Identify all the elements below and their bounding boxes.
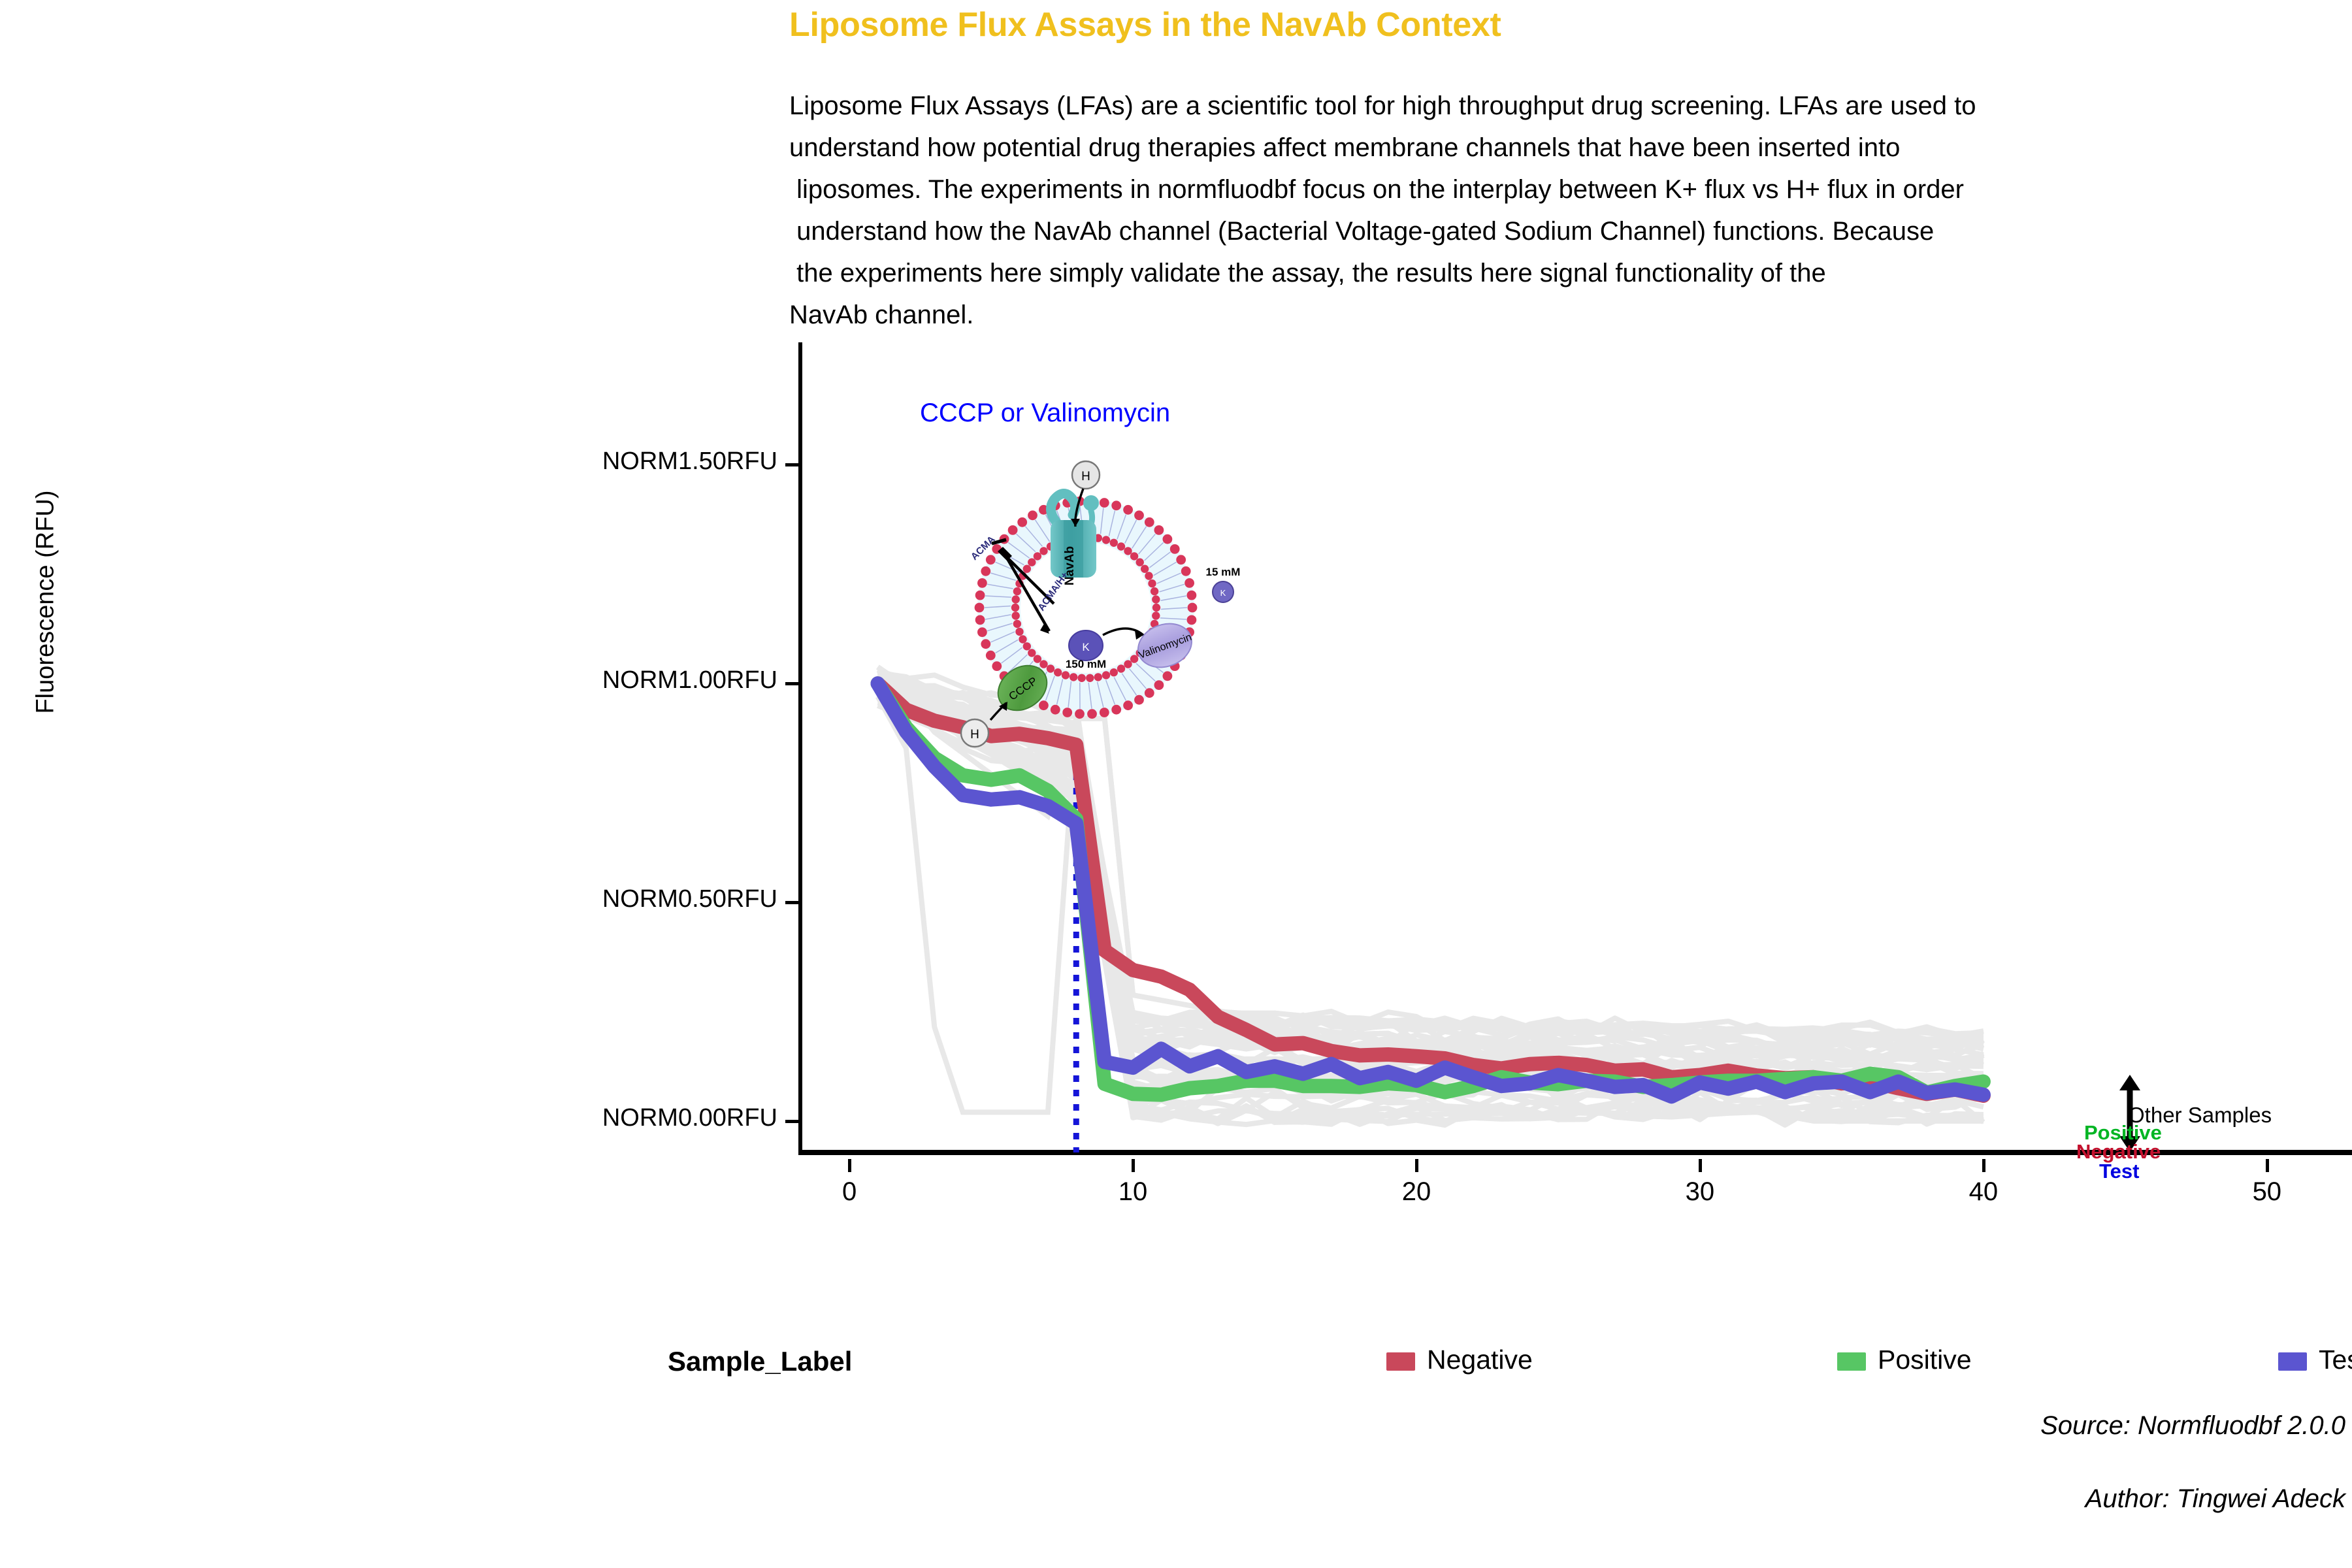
legend-label: Negative	[1427, 1345, 1533, 1375]
lipid-head	[1047, 664, 1054, 672]
x-tick-mark	[1415, 1159, 1418, 1172]
lipid-head	[1051, 705, 1060, 715]
lipid-head	[986, 651, 996, 661]
lipid-head	[1028, 510, 1037, 520]
lipid-head	[1187, 615, 1197, 625]
lipid-head	[1102, 671, 1110, 679]
lipid-head	[1154, 525, 1164, 535]
y-tick-label: NORM0.00RFU	[503, 1104, 777, 1132]
lipid-head	[1141, 565, 1149, 573]
x-tick-mark	[1982, 1159, 1985, 1172]
legend-title: Sample_Label	[668, 1346, 852, 1377]
y-tick-label: NORM1.50RFU	[503, 448, 777, 476]
liposome-diagram: NavAb H ACMA ACMA/H+ K 150 mM	[934, 443, 1269, 754]
y-axis-title: Fluorescence (RFU)	[32, 419, 60, 785]
annotation-test: Test	[2099, 1160, 2139, 1183]
y-tick-label: NORM0.50RFU	[503, 885, 777, 913]
x-tick-label: 50	[2215, 1177, 2319, 1207]
x-tick-mark	[2266, 1159, 2269, 1172]
lipid-head	[1086, 674, 1094, 682]
lipid-head	[1054, 668, 1062, 676]
x-tick-mark	[1699, 1159, 1702, 1172]
lipid-head	[1028, 558, 1036, 566]
lipid-head	[1181, 566, 1191, 576]
lipid-head	[1070, 673, 1077, 681]
lipid-head	[1184, 578, 1194, 588]
lipid-head	[1134, 510, 1144, 520]
legend-swatch	[1837, 1352, 1866, 1371]
x-tick-label: 30	[1648, 1177, 1752, 1207]
lipid-head	[986, 555, 996, 564]
x-tick-mark	[848, 1159, 851, 1172]
footer-author: Author: Tingwei Adeck	[2085, 1484, 2345, 1514]
legend-label: Positive	[1878, 1345, 1972, 1375]
lipid-head	[977, 578, 987, 588]
lipid-head	[1188, 603, 1198, 613]
potassium-inside: K 150 mM	[1066, 630, 1106, 670]
lipid-head	[1130, 655, 1138, 662]
legend-label: Test	[2319, 1345, 2352, 1375]
chart-canvas: Liposome Flux Assays in the NavAb Contex…	[0, 0, 2352, 1568]
lipid-head	[1145, 572, 1152, 580]
y-tick-mark	[785, 682, 798, 685]
x-tick-mark	[1132, 1159, 1135, 1172]
lipid-head	[1124, 547, 1132, 555]
lipid-head	[1136, 558, 1144, 566]
lipid-head	[1176, 555, 1186, 564]
legend-swatch	[1386, 1352, 1415, 1371]
potassium-outside: K 15 mM	[1206, 566, 1241, 602]
y-tick-mark	[785, 901, 798, 904]
footer-source: Source: Normfluodbf 2.0.0	[2040, 1411, 2345, 1441]
lipid-head	[1023, 565, 1031, 573]
lipid-head	[1013, 620, 1021, 628]
lipid-head	[1062, 671, 1070, 679]
lipid-head	[1145, 517, 1154, 527]
k-outside-label: K	[1220, 588, 1226, 598]
lipid-head	[1039, 660, 1047, 668]
proton-bottom-label: H	[970, 728, 979, 742]
lipid-head	[1148, 580, 1156, 587]
y-tick-label: NORM1.00RFU	[503, 666, 777, 694]
lipid-head	[1012, 612, 1020, 619]
lipid-head	[1170, 544, 1180, 554]
lipid-head	[1130, 552, 1138, 560]
lipid-head	[977, 627, 987, 637]
lipid-head	[1110, 539, 1118, 547]
lipid-head	[1145, 688, 1154, 698]
lipid-head	[975, 603, 985, 613]
lipid-head	[1102, 536, 1110, 544]
lipid-head	[1151, 587, 1158, 595]
lipid-head	[1034, 655, 1041, 662]
x-tick-label: 40	[1931, 1177, 2036, 1207]
lipid-head	[1124, 660, 1132, 668]
k-inside-label: K	[1082, 641, 1090, 653]
lipid-head	[1123, 700, 1133, 710]
lipid-head	[1062, 708, 1072, 717]
inset-caption: CCCP or Valinomycin	[920, 399, 1170, 428]
lipid-head	[1152, 595, 1160, 603]
lipid-head	[1187, 591, 1197, 600]
lipid-head	[1117, 664, 1125, 672]
lipid-head	[981, 639, 990, 649]
lipid-head	[1075, 709, 1085, 719]
lipid-head	[1110, 668, 1118, 676]
lipid-head	[1152, 612, 1160, 619]
lipid-head	[1163, 671, 1173, 681]
lipid-head	[1111, 500, 1121, 510]
lipid-head	[1015, 628, 1023, 636]
x-tick-label: 0	[797, 1177, 902, 1207]
proton-bottom: H	[961, 719, 988, 747]
lipid-head	[1019, 635, 1026, 643]
lipid-head	[1028, 649, 1036, 657]
lipid-head	[1163, 534, 1173, 544]
legend: Sample_Label NegativePositiveTest	[668, 1339, 2352, 1385]
proton-top-label: H	[1081, 470, 1090, 483]
lipid-head	[1111, 705, 1121, 715]
y-tick-mark	[785, 463, 798, 466]
lipid-head	[1154, 680, 1164, 690]
lipid-head	[1152, 604, 1160, 612]
x-tick-label: 20	[1364, 1177, 1469, 1207]
lipid-head	[1012, 595, 1020, 603]
lipid-head	[1013, 587, 1021, 595]
lipid-head	[1100, 708, 1109, 717]
lipid-head	[975, 615, 985, 625]
y-tick-mark	[785, 1120, 798, 1123]
lipid-head	[1039, 700, 1049, 710]
lipid-head	[1078, 674, 1086, 682]
lipid-head	[1039, 547, 1047, 555]
k-outside-conc: 15 mM	[1206, 566, 1241, 578]
lipid-head	[992, 661, 1002, 671]
lipid-head	[1087, 709, 1097, 719]
chart-description: Liposome Flux Assays (LFAs) are a scient…	[789, 85, 2352, 336]
lipid-head	[1023, 642, 1031, 650]
lipid-head	[1011, 604, 1019, 612]
lipid-head	[1100, 498, 1109, 508]
lipid-head	[1008, 525, 1018, 535]
lipid-head	[1017, 517, 1027, 527]
lipid-head	[1034, 552, 1041, 560]
x-tick-label: 10	[1081, 1177, 1185, 1207]
lipid-head	[1094, 673, 1102, 681]
lipid-head	[981, 566, 990, 576]
lipid-head	[975, 591, 985, 600]
lipid-head	[1123, 505, 1133, 515]
lipid-head	[1117, 542, 1125, 550]
k-inside-conc: 150 mM	[1066, 658, 1106, 670]
lipid-head	[1134, 695, 1144, 705]
legend-swatch	[2278, 1352, 2307, 1371]
page-title: Liposome Flux Assays in the NavAb Contex…	[789, 5, 2352, 44]
